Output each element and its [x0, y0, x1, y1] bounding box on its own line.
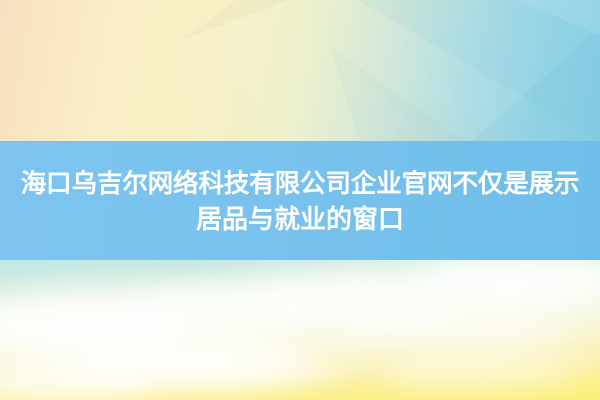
- headline-line-1: 海口乌吉尔网络科技有限公司企业官网不仅是展示: [21, 167, 580, 202]
- cloud-haze-overlay: [0, 260, 600, 400]
- banner-graphic: 海口乌吉尔网络科技有限公司企业官网不仅是展示 居品与就业的窗口: [0, 0, 600, 400]
- low-poly-facet-overlay: [0, 0, 600, 142]
- top-decorative-region: [0, 0, 600, 142]
- bottom-sky-region: [0, 260, 600, 400]
- headline-line-2: 居品与就业的窗口: [196, 202, 404, 237]
- headline-band: 海口乌吉尔网络科技有限公司企业官网不仅是展示 居品与就业的窗口: [0, 141, 600, 260]
